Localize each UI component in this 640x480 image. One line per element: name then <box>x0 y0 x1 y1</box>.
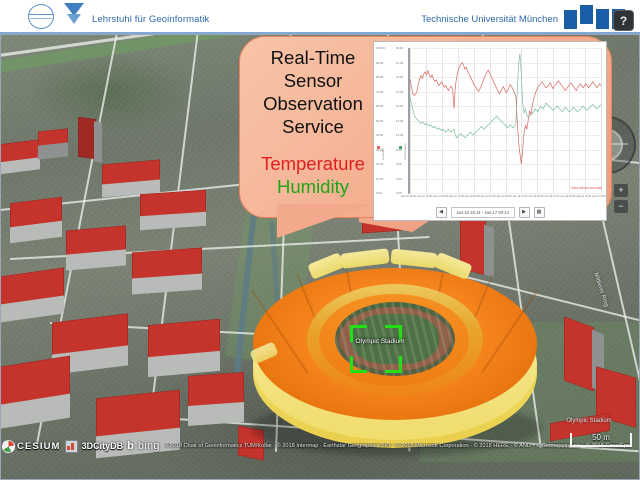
chart-xtick: Jan-13 12:00 <box>481 195 496 198</box>
zoom-out-button[interactable]: − <box>614 200 628 213</box>
chevron-icon <box>64 3 84 27</box>
chart-ytick-inner: 18.00 <box>396 104 403 108</box>
chart-gridline-h <box>410 193 601 194</box>
bing-icon: b <box>127 440 134 452</box>
chart-xtick: Jan-15 00:00 <box>528 195 543 198</box>
sensor-timeseries-chart[interactable]: Humidity Temperature 100.0090.0080.0070.… <box>373 41 607 221</box>
zoom-controls[interactable]: + − <box>614 184 628 213</box>
cesium-icon <box>2 440 15 453</box>
cesium-3d-viewer-app: Lehrstuhl für Geoinformatik Technische U… <box>0 0 640 480</box>
chart-xtick: Jan-11 00:00 <box>401 195 416 198</box>
zoom-in-button[interactable]: + <box>614 184 628 197</box>
bing-label: bing <box>138 440 160 452</box>
selection-corner-bottom-left <box>350 356 367 373</box>
chart-xtick: Jan-13 00:00 <box>465 195 480 198</box>
chart-gridline-v <box>601 48 602 193</box>
chart-ytick-left: 90.00 <box>376 61 383 65</box>
callout-title-line-4: Service <box>249 115 377 138</box>
legend-humidity-label: Humidity <box>249 175 377 198</box>
chart-series-temperature <box>410 63 601 165</box>
chart-series-layer <box>410 48 601 193</box>
next-icon[interactable]: ▶ <box>519 207 530 218</box>
chart-ytick-inner: 27.00 <box>396 61 403 65</box>
cesium-logo[interactable]: CESIUM <box>2 440 61 453</box>
chart-ytick-left: 80.00 <box>376 75 383 79</box>
chart-series-humidity <box>410 54 601 138</box>
chart-ytick-inner: 3.00 <box>396 177 402 181</box>
university-label: Technische Universität München <box>421 14 558 25</box>
chart-ytick-inner: 30.00 <box>396 46 403 50</box>
chart-ylabel-inner: Temperature <box>403 143 407 160</box>
chart-ytick-inner: 9.00 <box>396 148 402 152</box>
chart-xtick: Jan-12 00:00 <box>433 195 448 198</box>
calendar-icon[interactable]: ▦ <box>534 207 545 218</box>
selection-corner-bottom-right <box>385 356 402 373</box>
selected-feature-label: Olympic Stadium <box>350 338 410 345</box>
chart-xtick: Jan-14 00:00 <box>497 195 512 198</box>
chart-ytick-left: 40.00 <box>376 133 383 137</box>
chart-plot-area <box>408 48 601 194</box>
scale-bar-label: 50 m <box>592 433 610 443</box>
chart-xtick: Jan-15 12:00 <box>544 195 559 198</box>
cesium-label: CESIUM <box>17 441 61 452</box>
chart-ytick-inner: 15.00 <box>396 119 403 123</box>
chart-ytick-left: 0.00 <box>376 191 382 195</box>
chart-xtick: Jan-14 12:00 <box>512 195 527 198</box>
chart-ytick-inner: 24.00 <box>396 75 403 79</box>
stadium-roof-panel <box>390 249 437 269</box>
scale-bar: 50 m <box>570 433 632 447</box>
stadium-roof-panel <box>340 248 389 269</box>
callout-title-line-1: Real-Time <box>249 46 377 69</box>
callout-tail <box>277 204 373 238</box>
previous-icon[interactable]: ◀ <box>436 207 447 218</box>
chart-xtick: Jan-11 12:00 <box>417 195 432 198</box>
chart-annotation: Data without warranty <box>571 186 602 190</box>
department-label: Lehrstuhl für Geoinformatik <box>92 14 209 25</box>
time-range-value[interactable]: Jan-10 16:14 - Jan-17 00:14 <box>451 207 515 218</box>
chart-ytick-left: 10.00 <box>376 177 383 181</box>
chart-ytick-left: 20.00 <box>376 162 383 166</box>
chart-xtick: Jan-17 00:00 <box>592 195 607 198</box>
chart-xtick: Jan-16 00:00 <box>560 195 575 198</box>
chart-ytick-inner: 12.00 <box>396 133 403 137</box>
chart-ytick-left: 50.00 <box>376 119 383 123</box>
chart-ytick-inner: 6.00 <box>396 162 402 166</box>
chart-ytick-left: 30.00 <box>376 148 383 152</box>
legend-temperature-label: Temperature <box>249 152 377 175</box>
chart-time-controls[interactable]: ◀ Jan-10 16:14 - Jan-17 00:14 ▶ ▦ <box>374 206 606 218</box>
header-divider <box>0 32 640 34</box>
citydb-label: 3DCityDB <box>82 441 124 451</box>
chart-ytick-inner: 21.00 <box>396 90 403 94</box>
chart-ytick-left: 60.00 <box>376 104 383 108</box>
help-button[interactable]: ? <box>613 10 634 31</box>
page-header: Lehrstuhl für Geoinformatik Technische U… <box>0 0 640 33</box>
callout-text-block: Real-Time Sensor Observation Service Tem… <box>249 46 377 198</box>
feature-selection-indicator[interactable] <box>350 325 402 373</box>
attribution-text: © 2018 Chair of Geoinformatics TUM/Kolbe… <box>164 443 632 449</box>
chart-ytick-left: 70.00 <box>376 90 383 94</box>
sensor-info-callout: Real-Time Sensor Observation Service Tem… <box>239 36 612 218</box>
map-poi-label: Olympic Stadium <box>566 418 612 425</box>
chart-xtick: Jan-16 12:00 <box>576 195 591 198</box>
callout-title-line-2: Sensor <box>249 69 377 92</box>
globe-icon <box>28 4 56 30</box>
callout-title-line-3: Observation <box>249 92 377 115</box>
citydb-icon <box>65 440 78 453</box>
chart-xtick: Jan-12 12:00 <box>449 195 464 198</box>
chart-ytick-left: 100.00 <box>376 46 385 50</box>
attribution-bar: CESIUM 3DCityDB b bing © 2018 Chair of G… <box>0 439 640 453</box>
